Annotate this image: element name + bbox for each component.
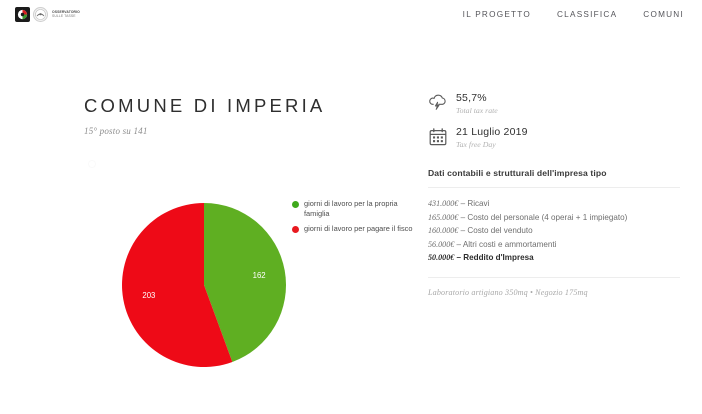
legend-label-red: giorni di lavoro per pagare il fisco — [304, 224, 412, 234]
page-title: COMUNE DI IMPERIA — [84, 95, 414, 117]
financial-label: – Costo del personale (4 operai + 1 impi… — [458, 213, 627, 222]
logo-text-line2: SULLE TASSE — [52, 15, 80, 18]
structural-note: Laboratorio artigiano 350mq • Negozio 17… — [428, 288, 680, 297]
site-header: OSSERVATORIO SULLE TASSE IL PROGETTO CLA… — [0, 0, 702, 36]
tax-free-day-caption: Tax free Day — [456, 139, 528, 150]
financial-line: 56.000€ – Altri costi e ammortamenti — [428, 238, 680, 252]
nav-item-comuni[interactable]: COMUNI — [643, 10, 684, 19]
pie-label-red: 203 — [142, 291, 155, 300]
observatory-emblem-icon — [33, 7, 48, 22]
financial-data-heading: Dati contabili e strutturali dell'impres… — [428, 168, 680, 178]
financial-line: 160.000€ – Costo del venduto — [428, 224, 680, 238]
pie-chart-legend: giorni di lavoro per la propria famiglia… — [292, 199, 416, 239]
financial-amount: 431.000€ — [428, 199, 458, 208]
financial-amount: 165.000€ — [428, 213, 458, 222]
financial-amount: 56.000€ — [428, 240, 454, 249]
legend-dot-red — [292, 226, 299, 233]
cna-badge-icon — [15, 7, 30, 22]
financial-line: 165.000€ – Costo del personale (4 operai… — [428, 211, 680, 225]
total-tax-rate-caption: Total tax rate — [456, 105, 498, 116]
financial-label: – Altri costi e ammortamenti — [454, 240, 556, 249]
pie-chart-svg: 162 203 — [120, 201, 288, 369]
legend-item[interactable]: giorni di lavoro per pagare il fisco — [292, 224, 416, 234]
financial-label: – Ricavi — [458, 199, 489, 208]
total-tax-rate-value: 55,7% — [456, 92, 498, 104]
decorative-dot — [88, 160, 96, 168]
page-subtitle: 15° posto su 141 — [84, 126, 414, 136]
section-divider — [428, 277, 680, 278]
site-logo[interactable]: OSSERVATORIO SULLE TASSE — [15, 7, 80, 22]
nav-item-il-progetto[interactable]: IL PROGETTO — [463, 10, 531, 19]
financial-label: – Costo del venduto — [458, 226, 532, 235]
financial-label: – Reddito d'Impresa — [454, 253, 533, 262]
page-heading-block: COMUNE DI IMPERIA 15° posto su 141 — [84, 95, 414, 136]
tax-summary-panel: 55,7% Total tax rate 21 Luglio 2019 Tax … — [428, 92, 680, 297]
legend-item[interactable]: giorni di lavoro per la propria famiglia — [292, 199, 416, 219]
working-days-pie-chart: 162 203 giorni di lavoro per la propria … — [84, 155, 414, 390]
stat-tax-free-day: 21 Luglio 2019 Tax free Day — [428, 126, 680, 150]
nav-item-classifica[interactable]: CLASSIFICA — [557, 10, 617, 19]
stat-total-tax-rate: 55,7% Total tax rate — [428, 92, 680, 116]
legend-label-green: giorni di lavoro per la propria famiglia — [304, 199, 416, 219]
cloud-lightning-icon — [428, 92, 450, 111]
calendar-icon — [428, 126, 450, 146]
financial-lines: 431.000€ – Ricavi 165.000€ – Costo del p… — [428, 197, 680, 265]
legend-dot-green — [292, 201, 299, 208]
main-navigation: IL PROGETTO CLASSIFICA COMUNI — [463, 10, 684, 19]
section-divider — [428, 187, 680, 188]
pie-label-green: 162 — [253, 271, 266, 280]
tax-free-day-value: 21 Luglio 2019 — [456, 126, 528, 138]
financial-line: 431.000€ – Ricavi — [428, 197, 680, 211]
financial-line-total: 50.000€ – Reddito d'Impresa — [428, 251, 680, 265]
financial-amount: 50.000€ — [428, 253, 454, 262]
financial-amount: 160.000€ — [428, 226, 458, 235]
